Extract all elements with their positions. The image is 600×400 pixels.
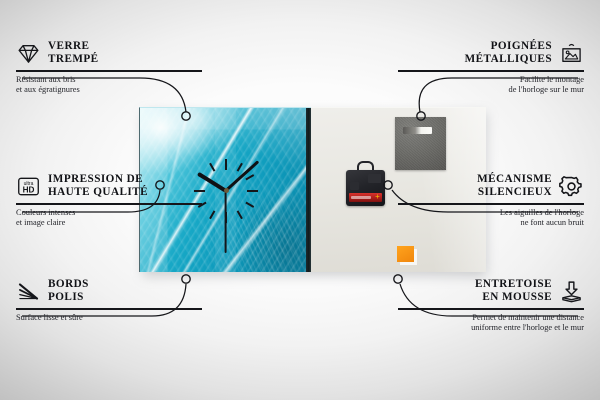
callout-title-line2: POLIS (48, 291, 89, 304)
callout-title-line2: SILENCIEUX (477, 186, 552, 199)
callout-divider (16, 308, 202, 309)
clock-center-cap (224, 188, 229, 193)
callout-header: BORDS POLIS (16, 278, 202, 305)
callout-title-line1: IMPRESSION DE (48, 173, 148, 186)
callout-entretoise-en-mousse: ENTRETOISE EN MOUSSE Permet de maintenir… (398, 278, 584, 333)
callout-title-line1: ENTRETOISE (475, 278, 552, 291)
callout-divider (398, 70, 584, 71)
battery: + (349, 193, 382, 202)
callout-desc-line1: Surface lisse et sûre (16, 313, 202, 323)
callout-desc-line2: ne font aucun bruit (398, 218, 584, 228)
mechanism-body: + (346, 170, 385, 206)
callout-title-line2: EN MOUSSE (475, 291, 552, 304)
callout-title: BORDS POLIS (48, 278, 89, 305)
callout-description: Permet de maintenir une distance uniform… (398, 313, 584, 334)
mechanism-detail (350, 182, 359, 190)
callout-poignees-metalliques: POIGNÉES MÉTALLIQUES Facilite le montage… (398, 40, 584, 95)
callout-desc-line1: Permet de maintenir une distance (398, 313, 584, 323)
callout-divider (398, 203, 584, 204)
infographic-canvas: + (0, 0, 600, 400)
callout-title: MÉCANISME SILENCIEUX (477, 173, 552, 200)
callout-impression-haute-qualite: ultra HD IMPRESSION DE HAUTE QUALITÉ Cou… (16, 173, 202, 228)
callout-description: Résistant aux bris et aux égratignures (16, 75, 202, 96)
callout-divider (398, 308, 584, 309)
callout-description: Couleurs intenses et image claire (16, 208, 202, 229)
hanger-plate-texture (395, 117, 446, 170)
clock-second-hand (225, 191, 227, 253)
callout-desc-line2: de l'horloge sur le mur (398, 85, 584, 95)
callout-title-line1: MÉCANISME (477, 173, 552, 186)
callout-title-line1: VERRE (48, 40, 99, 53)
wall-mount-frame-icon (559, 41, 584, 66)
callout-desc-line2: uniforme entre l'horloge et le mur (398, 323, 584, 333)
mechanism-detail (368, 174, 381, 183)
callout-title: IMPRESSION DE HAUTE QUALITÉ (48, 173, 148, 200)
callout-title: POIGNÉES MÉTALLIQUES (465, 40, 552, 67)
ultra-hd-icon: ultra HD (16, 174, 41, 199)
diamond-icon (16, 41, 41, 66)
callout-title-line1: BORDS (48, 278, 89, 291)
callout-header: MÉCANISME SILENCIEUX (398, 173, 584, 200)
callout-description: Surface lisse et sûre (16, 313, 202, 323)
callout-divider (16, 203, 202, 204)
callout-header: ENTRETOISE EN MOUSSE (398, 278, 584, 305)
metal-hanger-plate (395, 117, 446, 170)
hanger-slot (403, 127, 432, 134)
callout-title: ENTRETOISE EN MOUSSE (475, 278, 552, 305)
battery-label (351, 196, 371, 199)
callout-title: VERRE TREMPÉ (48, 40, 99, 67)
ultra-hd-icon-bottom-text: HD (23, 185, 35, 194)
callout-desc-line1: Les aiguilles de l'horloge (398, 208, 584, 218)
callout-desc-line1: Facilite le montage (398, 75, 584, 85)
callout-title-line1: POIGNÉES (465, 40, 552, 53)
gear-icon (559, 174, 584, 199)
callout-description: Les aiguilles de l'horloge ne font aucun… (398, 208, 584, 229)
callout-title-line2: MÉTALLIQUES (465, 53, 552, 66)
callout-desc-line1: Couleurs intenses (16, 208, 202, 218)
clock-mechanism-box: + (346, 165, 385, 206)
foam-spacer-icon (559, 279, 584, 304)
callout-verre-trempe: VERRE TREMPÉ Résistant aux bris et aux é… (16, 40, 202, 95)
callout-title-line2: HAUTE QUALITÉ (48, 186, 148, 199)
foam-spacer (397, 246, 414, 262)
callout-desc-line2: et image claire (16, 218, 202, 228)
callout-description: Facilite le montage de l'horloge sur le … (398, 75, 584, 96)
callout-bords-polis: BORDS POLIS Surface lisse et sûre (16, 278, 202, 323)
callout-divider (16, 70, 202, 71)
polished-edges-icon (16, 279, 41, 304)
callout-header: ultra HD IMPRESSION DE HAUTE QUALITÉ (16, 173, 202, 200)
battery-plus-terminal: + (375, 194, 381, 200)
callout-desc-line1: Résistant aux bris (16, 75, 202, 85)
callout-header: POIGNÉES MÉTALLIQUES (398, 40, 584, 67)
callout-mecanisme-silencieux: MÉCANISME SILENCIEUX Les aiguilles de l'… (398, 173, 584, 228)
callout-desc-line2: et aux égratignures (16, 85, 202, 95)
callout-header: VERRE TREMPÉ (16, 40, 202, 67)
callout-title-line2: TREMPÉ (48, 53, 99, 66)
